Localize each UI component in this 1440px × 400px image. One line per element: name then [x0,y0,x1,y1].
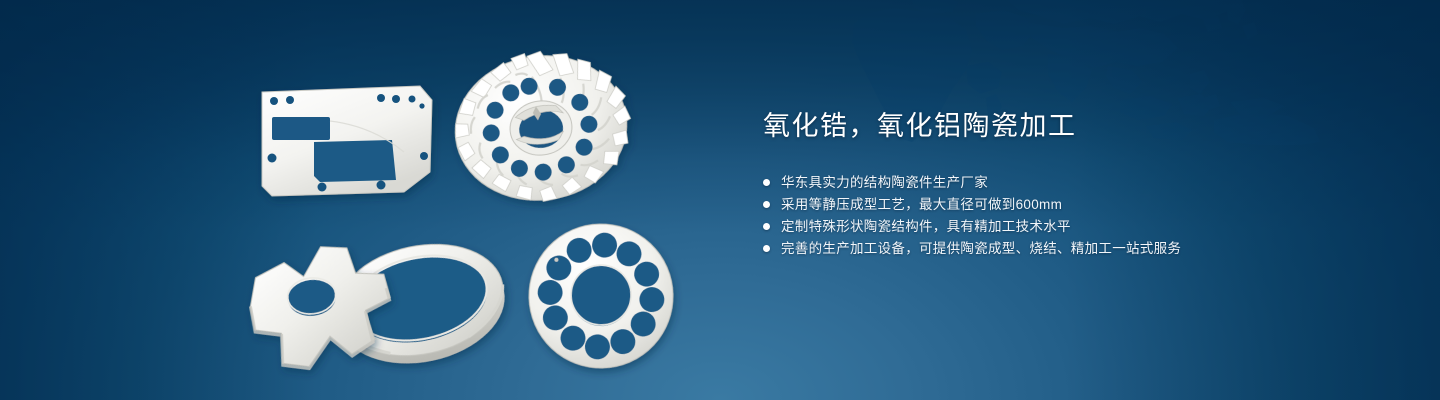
list-item: 完善的生产加工设备，可提供陶瓷成型、烧结、精加工一站式服务 [763,238,1403,260]
bullet-dot-icon [763,179,770,186]
list-item: 定制特殊形状陶瓷结构件，具有精加工技术水平 [763,216,1403,238]
ceramic-plate [262,86,432,196]
list-item-label: 定制特殊形状陶瓷结构件，具有精加工技术水平 [781,216,1071,238]
list-item: 采用等静压成型工艺，最大直径可做到600mm [763,194,1403,216]
product-image-cluster [0,0,740,400]
banner-text-column: 氧化锆，氧化铝陶瓷加工 华东具实力的结构陶瓷件生产厂家 采用等静压成型工艺，最大… [763,110,1403,260]
list-item-label: 华东具实力的结构陶瓷件生产厂家 [781,172,988,194]
ceramic-hole-disc [524,219,678,373]
list-item: 华东具实力的结构陶瓷件生产厂家 [763,172,1403,194]
feature-list: 华东具实力的结构陶瓷件生产厂家 采用等静压成型工艺，最大直径可做到600mm 定… [763,172,1403,260]
bullet-dot-icon [763,201,770,208]
ceramic-impeller [445,40,640,212]
bullet-dot-icon [763,223,770,230]
bullet-dot-icon [763,245,770,252]
page-title: 氧化锆，氧化铝陶瓷加工 [763,110,1403,144]
hero-banner: 氧化锆，氧化铝陶瓷加工 华东具实力的结构陶瓷件生产厂家 采用等静压成型工艺，最大… [0,0,1440,400]
list-item-label: 采用等静压成型工艺，最大直径可做到600mm [781,194,1062,216]
list-item-label: 完善的生产加工设备，可提供陶瓷成型、烧结、精加工一站式服务 [781,238,1181,260]
